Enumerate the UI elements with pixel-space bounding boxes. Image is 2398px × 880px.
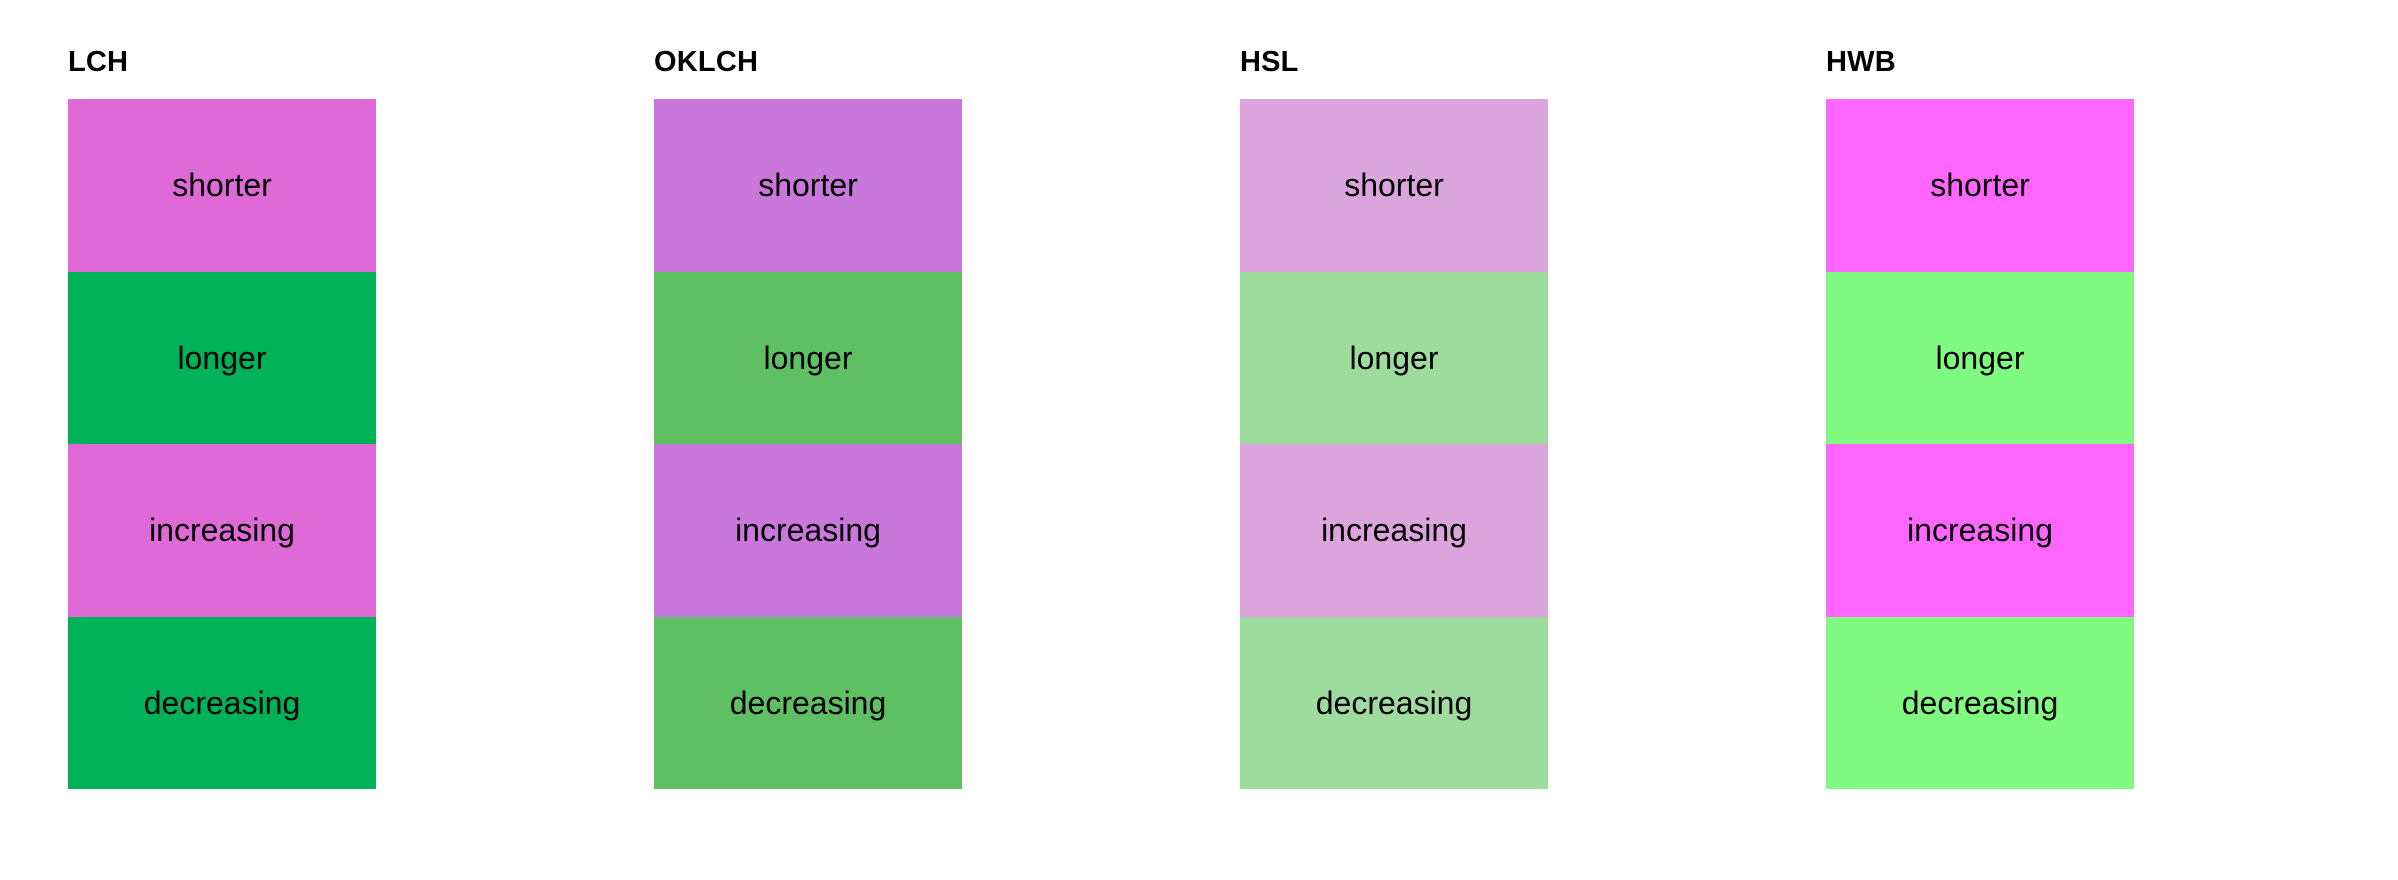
swatch-label: longer [178, 342, 267, 374]
swatch-stack: shorterlongerincreasingdecreasing [1240, 99, 1548, 789]
swatch-label: increasing [735, 514, 881, 546]
swatch-increasing[interactable]: increasing [1826, 444, 2134, 617]
swatch-label: shorter [1344, 169, 1444, 201]
color-space-title: LCH [68, 48, 376, 77]
swatch-label: longer [1936, 342, 2025, 374]
swatch-stack: shorterlongerincreasingdecreasing [68, 99, 376, 789]
swatch-shorter[interactable]: shorter [68, 99, 376, 272]
swatch-shorter[interactable]: shorter [654, 99, 962, 272]
color-space-column-hwb: HWBshorterlongerincreasingdecreasing [1826, 48, 2134, 789]
swatch-label: decreasing [1316, 687, 1473, 719]
color-space-title: HWB [1826, 48, 2134, 77]
swatch-increasing[interactable]: increasing [68, 444, 376, 617]
swatch-label: increasing [1321, 514, 1467, 546]
swatch-label: decreasing [730, 687, 887, 719]
swatch-label: increasing [149, 514, 295, 546]
swatch-label: decreasing [144, 687, 301, 719]
swatch-stack: shorterlongerincreasingdecreasing [1826, 99, 2134, 789]
swatch-decreasing[interactable]: decreasing [1240, 617, 1548, 790]
swatch-longer[interactable]: longer [1826, 272, 2134, 445]
swatch-increasing[interactable]: increasing [654, 444, 962, 617]
swatch-decreasing[interactable]: decreasing [68, 617, 376, 790]
swatch-label: increasing [1907, 514, 2053, 546]
swatch-shorter[interactable]: shorter [1240, 99, 1548, 272]
color-space-title: OKLCH [654, 48, 962, 77]
swatch-shorter[interactable]: shorter [1826, 99, 2134, 272]
swatch-label: shorter [758, 169, 858, 201]
swatch-label: shorter [172, 169, 272, 201]
swatch-stack: shorterlongerincreasingdecreasing [654, 99, 962, 789]
swatch-increasing[interactable]: increasing [1240, 444, 1548, 617]
swatch-longer[interactable]: longer [68, 272, 376, 445]
color-space-title: HSL [1240, 48, 1548, 77]
swatch-decreasing[interactable]: decreasing [1826, 617, 2134, 790]
swatch-label: decreasing [1902, 687, 2059, 719]
color-space-column-hsl: HSLshorterlongerincreasingdecreasing [1240, 48, 1548, 789]
color-space-column-oklch: OKLCHshorterlongerincreasingdecreasing [654, 48, 962, 789]
swatch-label: shorter [1930, 169, 2030, 201]
color-space-column-lch: LCHshorterlongerincreasingdecreasing [68, 48, 376, 789]
swatch-label: longer [764, 342, 853, 374]
color-space-columns: LCHshorterlongerincreasingdecreasingOKLC… [0, 0, 2398, 880]
swatch-label: longer [1350, 342, 1439, 374]
color-interpolation-board: LCHshorterlongerincreasingdecreasingOKLC… [0, 0, 2398, 880]
swatch-longer[interactable]: longer [1240, 272, 1548, 445]
swatch-longer[interactable]: longer [654, 272, 962, 445]
swatch-decreasing[interactable]: decreasing [654, 617, 962, 790]
